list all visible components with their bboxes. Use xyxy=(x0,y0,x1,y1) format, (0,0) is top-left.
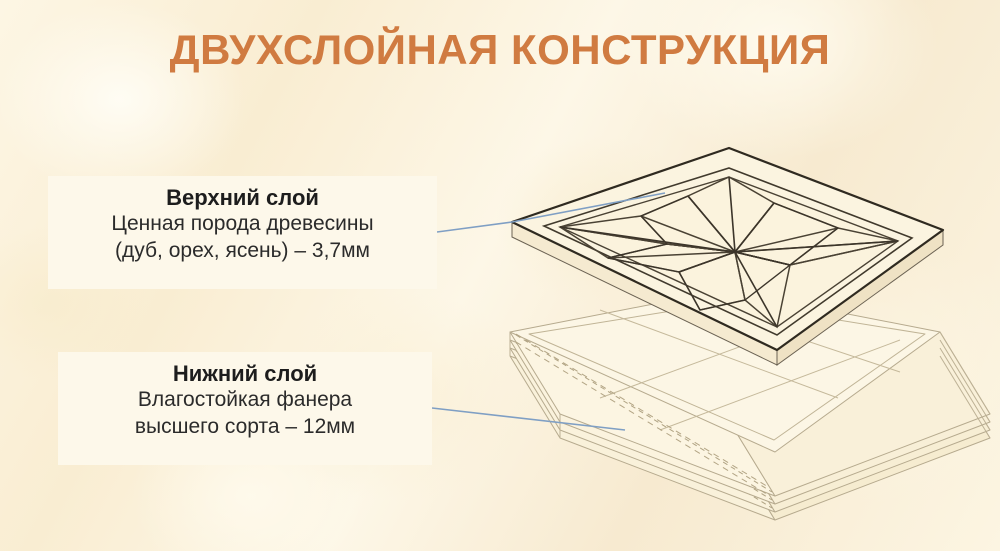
veneer-panel-group xyxy=(512,148,943,365)
veneer-edge-left xyxy=(512,222,777,365)
callout-top-layer: Верхний слой Ценная порода древесины (ду… xyxy=(48,176,437,289)
veneer-border-frame xyxy=(544,168,912,335)
veneer-top-face xyxy=(512,148,943,350)
slide-root: ДВУХСЛОЙНАЯ КОНСТРУКЦИЯ Верхний слой Цен… xyxy=(0,0,1000,551)
veneer-star-rays xyxy=(560,177,898,327)
callout-top-layer-line2: (дуб, орех, ясень) – 3,7мм xyxy=(48,238,437,265)
plywood-left-edge-plies xyxy=(510,332,560,438)
plywood-right-edge-plies xyxy=(940,332,990,438)
veneer-edge-right xyxy=(777,230,943,365)
callout-top-layer-line1: Ценная порода древесины xyxy=(48,211,437,238)
callout-top-layer-heading: Верхний слой xyxy=(48,185,437,211)
plywood-top-surface xyxy=(510,290,940,452)
leader-line-top-layer xyxy=(437,222,512,232)
callout-bottom-layer-line1: Влагостойкая фанера xyxy=(58,387,432,414)
leader-line-top-layer-extension xyxy=(512,193,665,222)
callout-bottom-layer: Нижний слой Влагостойкая фанера высшего … xyxy=(58,352,432,465)
page-title: ДВУХСЛОЙНАЯ КОНСТРУКЦИЯ xyxy=(0,26,1000,74)
plywood-ply-1 xyxy=(510,332,990,496)
plywood-ply-3 xyxy=(510,348,990,512)
veneer-corner-segments xyxy=(608,196,838,310)
callout-bottom-layer-heading: Нижний слой xyxy=(58,361,432,387)
veneer-star-pattern xyxy=(560,177,898,327)
leader-line-bottom-layer xyxy=(432,408,625,430)
plywood-ply-seams xyxy=(516,334,770,496)
veneer-inner-diamond xyxy=(560,177,898,327)
plywood-ply-4 xyxy=(510,356,990,520)
plywood-ply-2 xyxy=(510,340,990,504)
callout-bottom-layer-line2: высшего сорта – 12мм xyxy=(58,414,432,441)
plywood-panel-group xyxy=(510,290,990,520)
